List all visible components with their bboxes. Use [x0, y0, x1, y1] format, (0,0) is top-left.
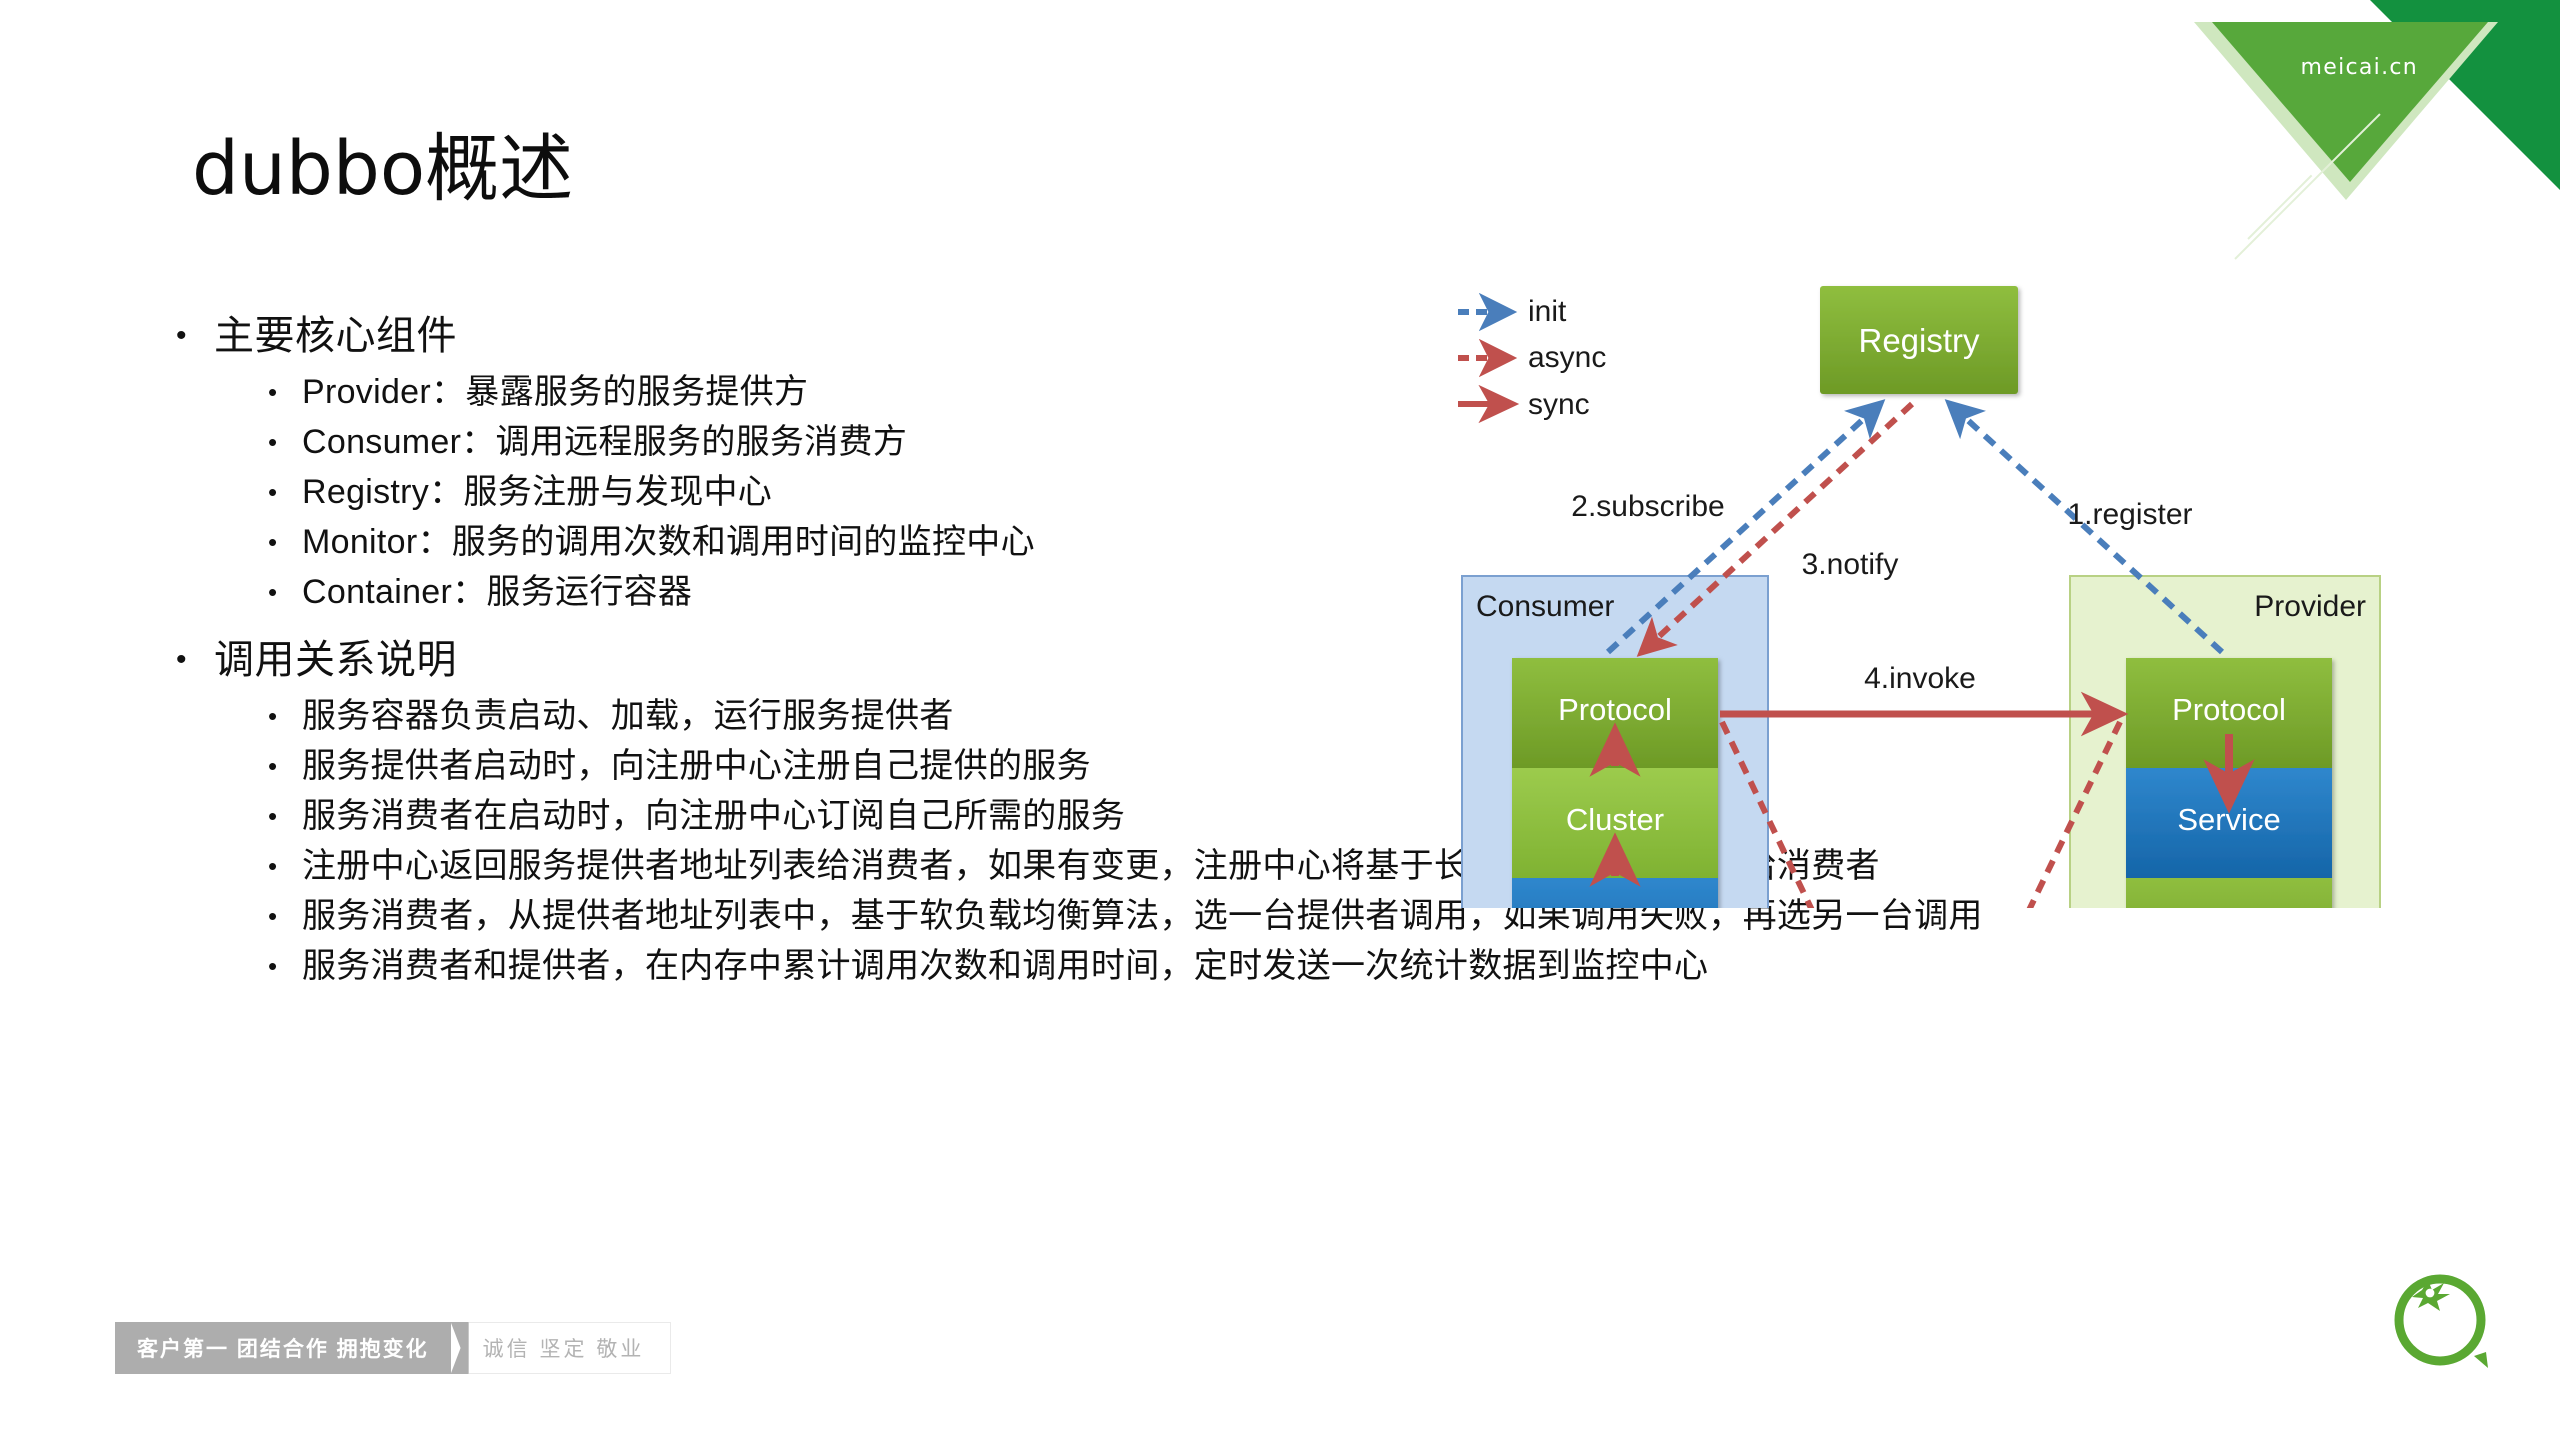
list-item-label: 服务消费者在启动时，向注册中心订阅自己所需的服务	[302, 792, 1125, 840]
diagram-node-provider-label: Provider	[2254, 590, 2366, 623]
footer-notch-divider	[451, 1322, 469, 1374]
list-item-label: Registry：服务注册与发现中心	[302, 468, 772, 516]
tomato-leaf-hole	[2426, 1289, 2435, 1298]
list-item: • 服务消费者和提供者，在内存中累计调用次数和调用时间，定时发送一次统计数据到监…	[176, 942, 2376, 990]
diagram-edge-notify-label: 3.notify	[1802, 548, 1899, 581]
page-title: dubbo概述	[192, 132, 573, 206]
footer-values-bar: 客户第一 团结合作 拥抱变化 诚信 坚定 敬业	[115, 1322, 671, 1374]
provider-layer-container-box	[2126, 878, 2332, 908]
consumer-layer-cluster-label: Cluster	[1566, 802, 1664, 837]
bullet-glyph: •	[176, 310, 214, 362]
diagram-edge-invoke-label: 4.invoke	[1864, 662, 1976, 695]
bullet-glyph: •	[268, 468, 302, 516]
diagram-edge-register-label: 1.register	[2067, 498, 2192, 531]
legend-label-async: async	[1528, 341, 1606, 374]
bullet-glyph: •	[268, 792, 302, 840]
list-item-label: Provider：暴露服务的服务提供方	[302, 368, 808, 416]
bullet-glyph: •	[268, 568, 302, 616]
footer-values-secondary: 诚信 坚定 敬业	[469, 1322, 672, 1374]
bullet-glyph: •	[268, 942, 302, 990]
section-heading-label: 调用关系说明	[214, 634, 457, 686]
brand-triangle-mid	[2212, 22, 2488, 182]
list-item-label: 服务消费者和提供者，在内存中累计调用次数和调用时间，定时发送一次统计数据到监控中…	[302, 942, 1708, 990]
list-item-label: 服务容器负责启动、加载，运行服务提供者	[302, 692, 954, 740]
dubbo-architecture-diagram: init async sync Registry Consumer Protoc…	[1430, 248, 2440, 908]
brand-triangle-pale	[2194, 22, 2498, 200]
section-heading-label: 主要核心组件	[214, 310, 457, 362]
bullet-glyph: •	[268, 692, 302, 740]
list-item-label: Monitor：服务的调用次数和调用时间的监控中心	[302, 518, 1035, 566]
legend-label-init: init	[1528, 295, 1567, 328]
consumer-layer-proxy-box	[1512, 878, 1718, 908]
brand-triangle-dark	[2370, 0, 2560, 190]
list-item-label: Consumer：调用远程服务的服务消费方	[302, 418, 907, 466]
diagram-edge-subscribe-label: 2.subscribe	[1571, 490, 1724, 523]
brand-wordmark: meicai.cn	[2301, 55, 2419, 80]
bullet-glyph: •	[176, 634, 214, 686]
provider-layer-protocol-label: Protocol	[2172, 692, 2286, 727]
bullet-glyph: •	[268, 418, 302, 466]
bullet-glyph: •	[268, 518, 302, 566]
bullet-glyph: •	[268, 842, 302, 890]
diagram-node-consumer-label: Consumer	[1476, 590, 1614, 623]
diagram-legend: init async sync	[1458, 295, 1606, 421]
bullet-glyph: •	[268, 742, 302, 790]
diagram-node-registry-label: Registry	[1858, 322, 1980, 359]
footer-values-primary: 客户第一 团结合作 拥抱变化	[115, 1322, 451, 1374]
diagram-edge-notify	[1642, 404, 1912, 652]
consumer-layer-protocol-label: Protocol	[1558, 692, 1672, 727]
bullet-glyph: •	[268, 368, 302, 416]
bullet-glyph: •	[268, 892, 302, 940]
legend-label-sync: sync	[1528, 388, 1590, 421]
list-item-label: Container：服务运行容器	[302, 568, 692, 616]
list-item-label: 服务提供者启动时，向注册中心注册自己提供的服务	[302, 742, 1091, 790]
meicai-tomato-logo	[2382, 1268, 2512, 1388]
provider-layer-service-label: Service	[2177, 802, 2280, 837]
decorative-hairline-1	[2234, 113, 2380, 259]
tomato-circle	[2399, 1279, 2481, 1361]
tomato-tail-accent	[2474, 1352, 2488, 1368]
decorative-hairline-2	[2247, 175, 2312, 240]
